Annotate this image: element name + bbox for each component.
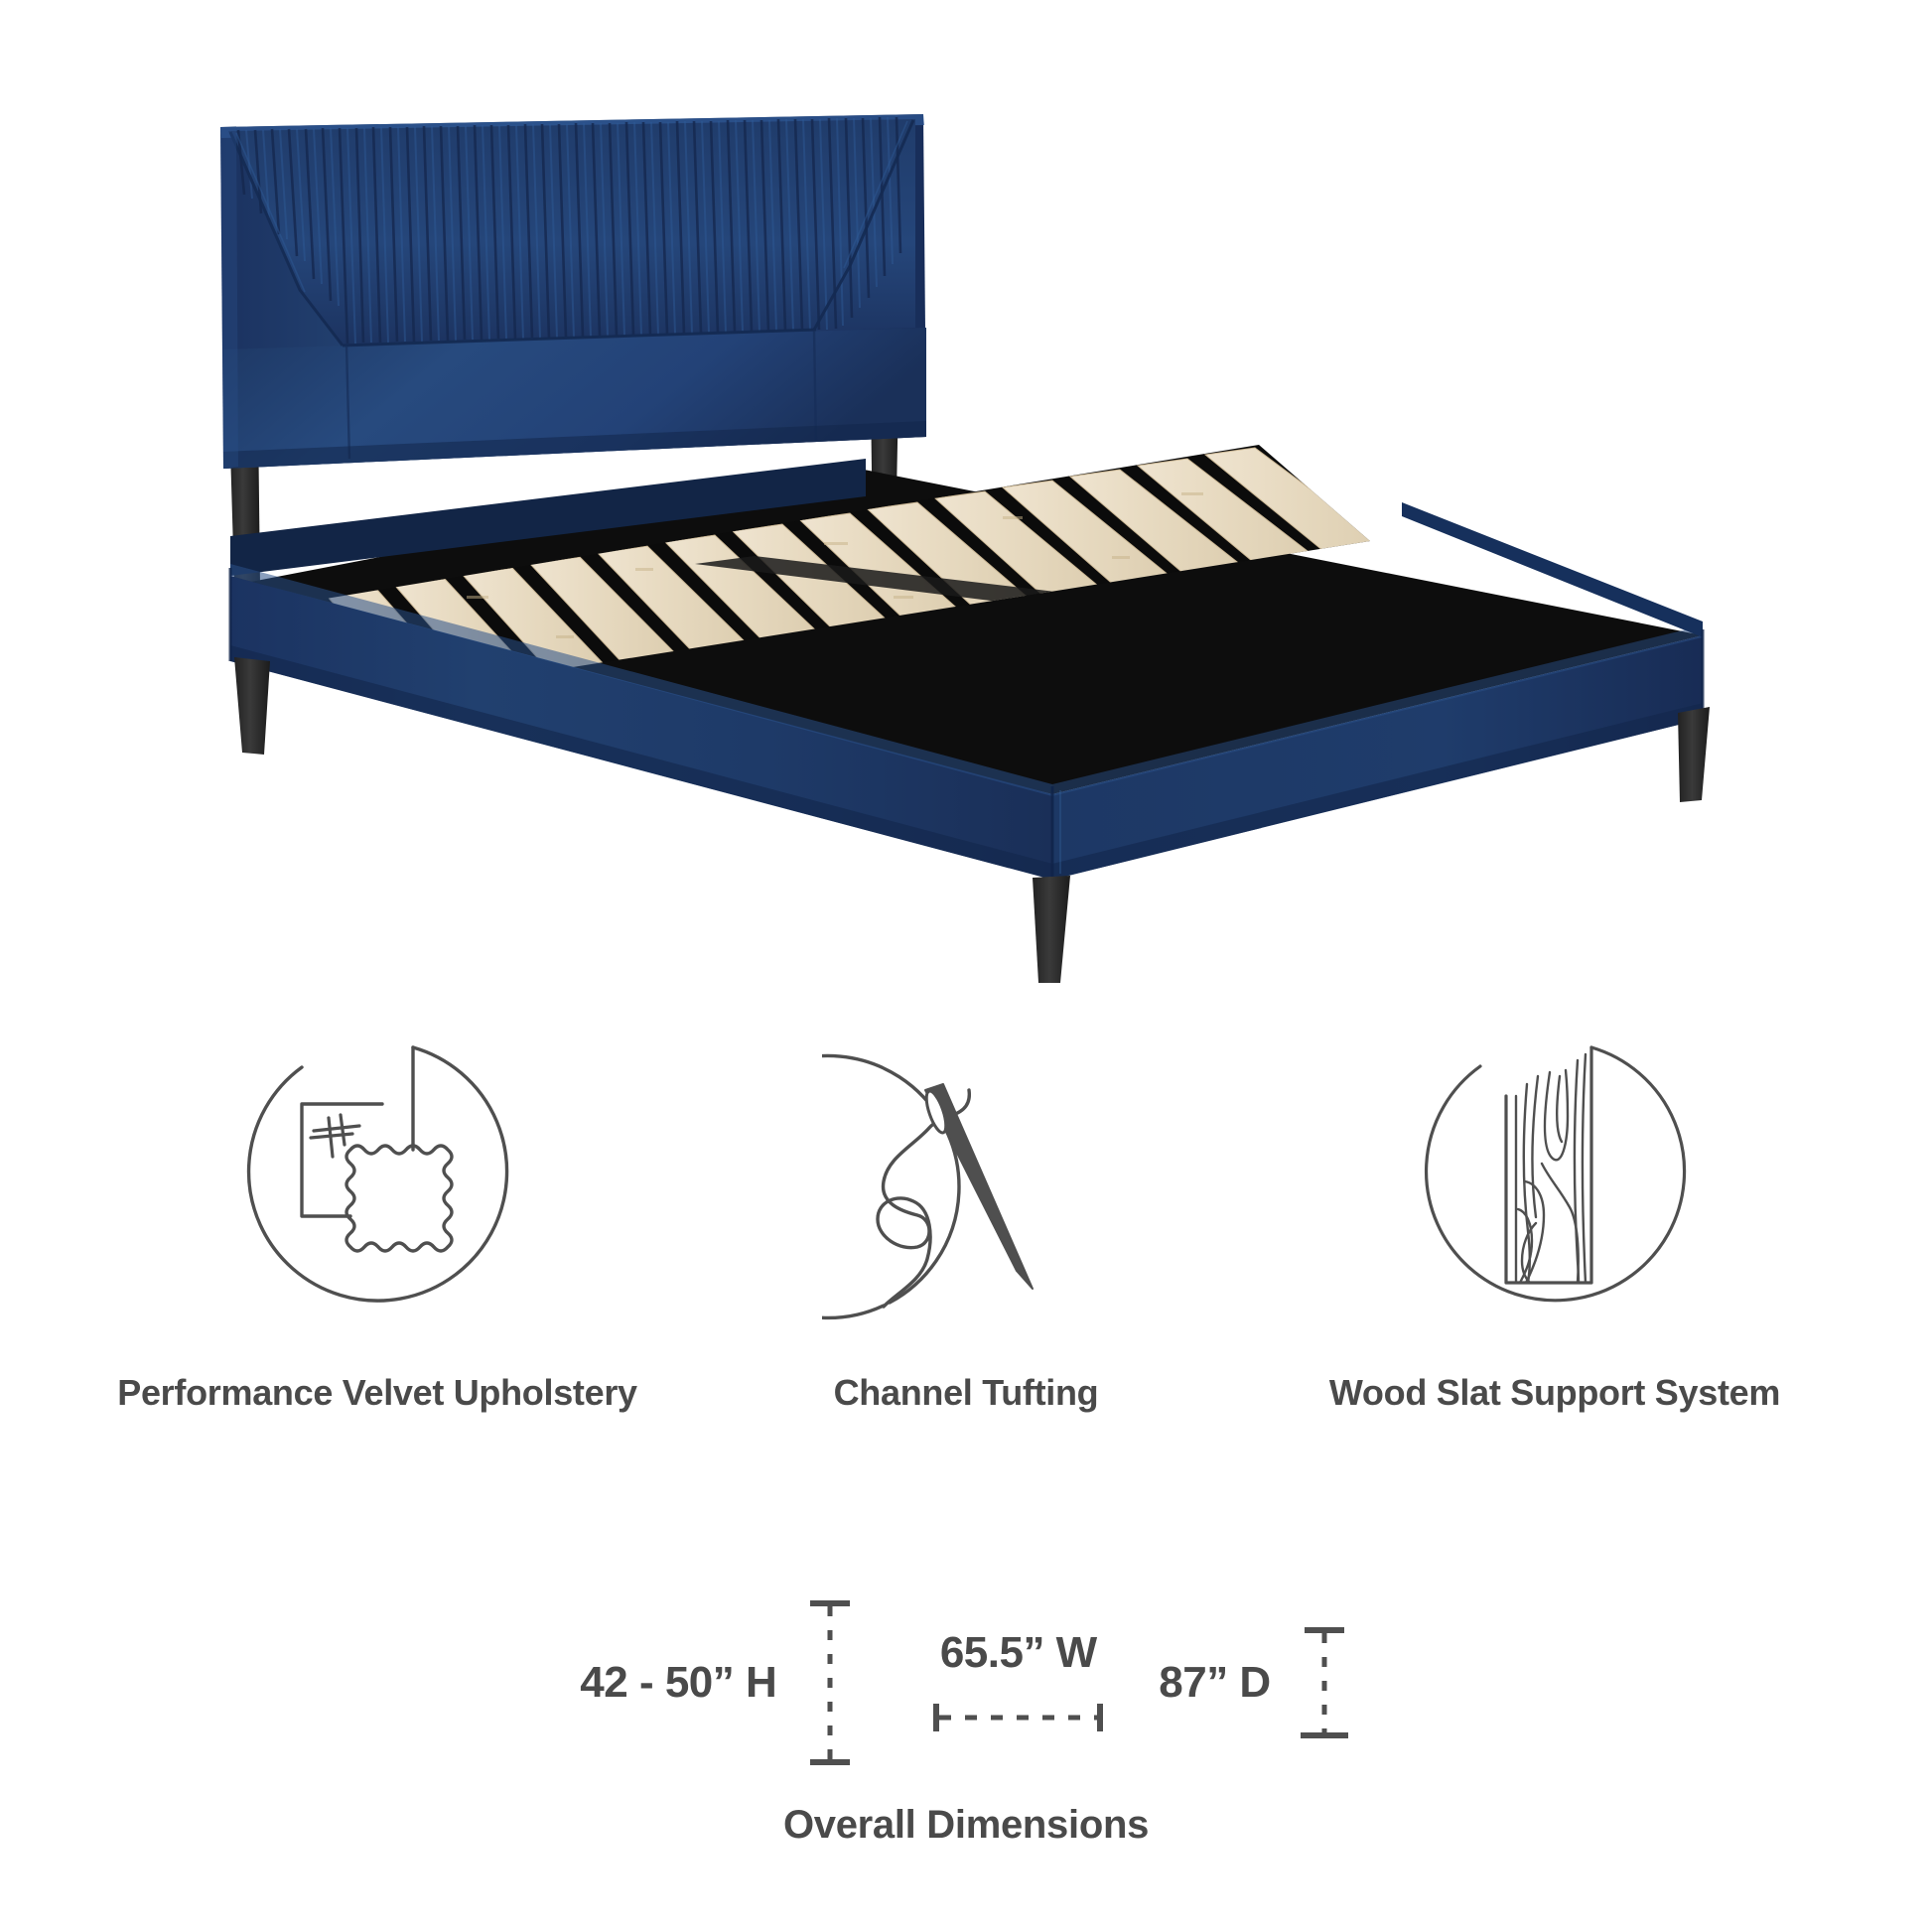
product-infographic-page: Performance Velvet Upholstery xyxy=(0,0,1932,1932)
fabric-swatch-icon xyxy=(233,1033,521,1320)
feature-label: Channel Tufting xyxy=(834,1372,1099,1414)
feature-highlights-row: Performance Velvet Upholstery xyxy=(0,1033,1932,1499)
needle-and-thread-icon xyxy=(822,1033,1110,1320)
overall-dimensions-section: 42 - 50” H 65.5” W xyxy=(0,1569,1932,1906)
overall-dimensions-caption: Overall Dimensions xyxy=(0,1803,1932,1848)
dimension-width: 65.5” W xyxy=(931,1628,1105,1737)
dimension-values-row: 42 - 50” H 65.5” W xyxy=(0,1569,1932,1797)
feature-item-slats: Wood Slat Support System xyxy=(1297,1033,1813,1499)
dimension-depth-label: 87” D xyxy=(1159,1658,1270,1708)
depth-measure-marker xyxy=(1297,1625,1352,1740)
feature-item-velvet: Performance Velvet Upholstery xyxy=(119,1033,635,1499)
feature-label: Performance Velvet Upholstery xyxy=(117,1372,637,1414)
dimension-height-label: 42 - 50” H xyxy=(580,1658,776,1708)
headboard xyxy=(220,114,926,469)
dimension-depth: 87” D xyxy=(1159,1625,1351,1740)
width-measure-marker xyxy=(931,1698,1105,1737)
feature-label: Wood Slat Support System xyxy=(1329,1372,1780,1414)
dimension-height: 42 - 50” H xyxy=(580,1598,858,1767)
product-hero-image xyxy=(0,0,1932,993)
feature-item-tufting: Channel Tufting xyxy=(708,1033,1224,1499)
dimension-width-label: 65.5” W xyxy=(940,1628,1097,1678)
wood-plank-grain-icon xyxy=(1411,1033,1699,1320)
height-measure-marker xyxy=(802,1598,858,1767)
bed-frame xyxy=(230,427,1703,880)
